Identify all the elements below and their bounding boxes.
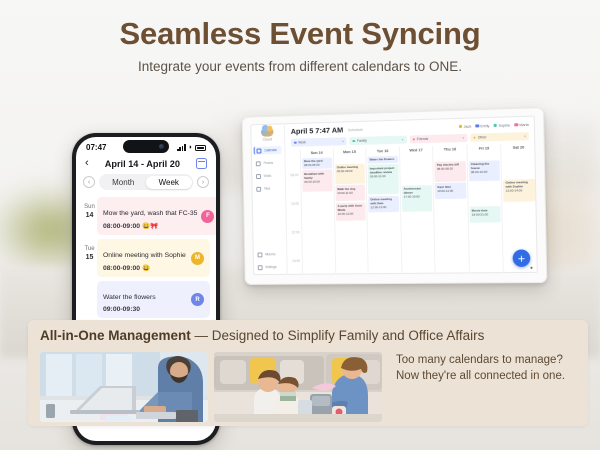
sidebar-item-calendar[interactable]: Calendar [254, 146, 282, 155]
day-columns: Sun 14 Mow the yard 08:00-09:00 Breakfas… [300, 143, 538, 275]
calendar-event[interactable]: Breakfast with family 09:00-10:00 [302, 169, 332, 191]
wifi-icon: ◗ [188, 144, 192, 151]
event-daynum: 14 [82, 212, 97, 220]
sidebar-item-label: Albums [265, 252, 276, 256]
category-chip-friends[interactable]: Friends ▾ [409, 134, 467, 144]
tablet-device: Cloud Calendar Photos Music [242, 107, 548, 285]
list-item[interactable]: Water the flowers 09:00-09:30 R [82, 281, 210, 318]
hour-label: 12:00 [292, 230, 300, 234]
event-time: 10:00-11:00 [337, 190, 353, 194]
sidebar-item-settings[interactable]: Settings [256, 263, 284, 271]
tab-month[interactable]: Month [101, 176, 147, 189]
tablet-indicator-light [530, 266, 533, 269]
calendar-event[interactable]: Online meeting 08:00-09:00 [335, 163, 365, 184]
chevron-down-icon[interactable]: ▾ [342, 139, 344, 143]
view-segmented-control: Month Week [99, 174, 193, 190]
header: Seamless Event Syncing Integrate your ev… [0, 16, 600, 74]
event-time: 12:00-13:00 [370, 205, 386, 209]
sidebar-item-albums[interactable]: Albums [256, 250, 284, 258]
back-icon[interactable]: ‹ [85, 158, 89, 169]
tablet-subtitle: Schedule [348, 127, 363, 131]
tablet-date-label: April 5 7:47 AM [291, 125, 344, 135]
photo-office-work-image [40, 352, 208, 422]
category-dot-icon [353, 140, 356, 143]
calendar-event[interactable]: Movie time 19:00-21:00 [470, 206, 502, 223]
sidebar-item-label: Calendar [264, 148, 277, 152]
day-header: Sun 14 [302, 149, 332, 158]
event-title: Mow the yard, wash that FC-35 [103, 210, 197, 217]
event-time-row: 08:00-09:00 😀 [103, 264, 187, 272]
next-week-button[interactable]: › [197, 176, 209, 188]
legend-dot-icon [475, 124, 479, 128]
add-event-button[interactable]: + [513, 249, 531, 267]
event-dow: Sun [82, 204, 97, 212]
calendar-event[interactable]: A party with Aunt Maria 10:00-12:00 [335, 202, 365, 220]
front-camera-icon [159, 144, 164, 149]
signal-icon [177, 144, 186, 151]
event-emoji: 😀🎀 [142, 222, 158, 230]
phone-navbar: ‹ April 14 - April 20 [76, 155, 216, 171]
event-time: 08:00-09:00 [337, 169, 353, 173]
files-icon [256, 186, 261, 191]
event-time-row: 08:00-09:00 😀🎀 [103, 222, 197, 230]
legend-label: Maria [519, 122, 528, 126]
calendar-event[interactable]: Mow the yard 08:00-09:00 [302, 157, 332, 169]
calendar-event[interactable]: Walk the dog 10:00-11:00 [335, 185, 365, 202]
event-day-marker: Tue 15 [82, 239, 97, 262]
gear-icon [258, 265, 263, 270]
photo-family-home [214, 352, 382, 422]
banner-photos [40, 352, 382, 422]
category-dot-icon [473, 136, 476, 139]
calendar-event[interactable]: Online meeting with Sophie 13:00-14:00 [503, 178, 535, 201]
avatar: M [191, 252, 204, 265]
event-time: 10:00-11:00 [437, 188, 453, 192]
calendar-icon[interactable] [196, 158, 207, 169]
day-column[interactable]: Thu 18 Pay electric bill 08:00-08:30 Gym… [432, 145, 468, 274]
photo-office-work [40, 352, 208, 422]
day-column[interactable]: Wed 17 Anniversary dinner 17:00-19:00 [399, 146, 435, 274]
event-day-marker [82, 281, 97, 288]
category-chip-family[interactable]: Family ▾ [350, 136, 407, 146]
page-subtitle: Integrate your events from different cal… [0, 59, 600, 74]
tablet-sidebar: Cloud Calendar Photos Music [250, 123, 287, 275]
category-label: Other [478, 135, 487, 139]
legend-label: Emily [480, 124, 489, 128]
sidebar-item-photos[interactable]: Photos [254, 159, 282, 168]
album-icon [258, 252, 263, 257]
legend-item[interactable]: Sophie [493, 123, 510, 128]
day-column[interactable]: Tue 16 Water the flowers Important proje… [365, 147, 401, 274]
calendar-event[interactable]: Anniversary dinner 17:00-19:00 [401, 185, 432, 212]
avatar: F [201, 210, 214, 223]
event-day-marker: Sun 14 [82, 197, 97, 220]
event-time-row: 09:00-09:30 [103, 306, 187, 313]
calendar-icon [257, 148, 262, 153]
sidebar-spacer [255, 197, 284, 246]
chevron-down-icon[interactable]: ▾ [402, 138, 404, 142]
legend-item[interactable]: Jack [459, 124, 472, 128]
day-column[interactable]: Fri 19 Cleaning the house 08:00-10:00 Mo… [466, 144, 503, 273]
list-item[interactable]: Sun 14 Mow the yard, wash that FC-35 08:… [82, 197, 210, 235]
event-time: 08:00-09:00 [103, 223, 140, 230]
calendar-event[interactable]: Cleaning the house 08:00-10:00 [469, 160, 501, 181]
hour-label: 14:00 [292, 258, 300, 262]
phone-date-range: April 14 - April 20 [105, 159, 180, 169]
category-label: Friends [417, 137, 428, 141]
tablet-screen: Cloud Calendar Photos Music [250, 116, 537, 276]
banner-title-rest: — Designed to Simplify Family and Office… [191, 328, 485, 343]
legend-item[interactable]: Emily [475, 124, 489, 128]
sidebar-item-label: Files [263, 187, 270, 191]
day-column[interactable]: Mon 15 Online meeting 08:00-09:00 Walk t… [332, 148, 367, 275]
status-time: 07:47 [86, 143, 106, 152]
category-label: Work [298, 140, 306, 144]
banner-title: All-in-One Management — Designed to Simp… [40, 328, 576, 343]
event-title: Online meeting with Sophie [505, 180, 533, 189]
tablet-main: April 5 7:47 AM Schedule Jack Emily [285, 116, 538, 275]
day-column[interactable]: Sun 14 Mow the yard 08:00-09:00 Breakfas… [300, 149, 335, 275]
event-title: Water the flowers [370, 157, 396, 162]
event-time: 09:00-10:00 [304, 179, 320, 183]
event-emoji: 😀 [142, 264, 150, 272]
sidebar-item-label: Settings [265, 265, 277, 269]
event-dow: Tue [82, 246, 97, 254]
calendar-event[interactable]: Important project deadline review 09:00-… [368, 164, 399, 195]
event-title: Water the flowers [103, 294, 156, 301]
banner-title-bold: All-in-One Management [40, 328, 191, 343]
sidebar-item-label: Music [263, 174, 272, 178]
calendar-event[interactable]: Pay electric bill 08:00-08:30 [435, 161, 466, 182]
event-time: 08:00-08:30 [437, 167, 453, 171]
hour-label: 08:00 [291, 173, 299, 177]
prev-week-button[interactable]: ‹ [83, 176, 95, 188]
photo-icon [256, 161, 261, 166]
banner-note: Too many calendars to manage? Now they'r… [390, 352, 576, 385]
event-time: 08:00-09:00 [304, 163, 320, 167]
event-time: 10:00-12:00 [338, 212, 354, 216]
status-icons: ◗ [177, 144, 206, 151]
brand-label: Cloud [263, 137, 273, 141]
bottom-banner: All-in-One Management — Designed to Simp… [28, 320, 588, 426]
sidebar-item-music[interactable]: Music [254, 172, 282, 180]
tablet-frame: Cloud Calendar Photos Music [242, 107, 548, 285]
event-time: 09:00-09:30 [103, 306, 140, 313]
list-item[interactable]: Tue 15 Online meeting with Sophie 08:00-… [82, 239, 210, 277]
banner-body: Too many calendars to manage? Now they'r… [40, 352, 576, 422]
event-time: 19:00-21:00 [472, 212, 488, 216]
event-time: 17:00-19:00 [404, 195, 420, 199]
legend-label: Jack [464, 124, 472, 128]
calendar-week-grid: 08:00 10:00 12:00 14:00 Sun 14 Mow the y… [285, 143, 537, 275]
legend-label: Sophie [499, 123, 511, 127]
legend-dot-icon [514, 123, 518, 127]
calendar-event[interactable]: Water the flowers [368, 155, 398, 163]
category-dot-icon [412, 138, 415, 141]
event-time: 13:00-14:00 [506, 188, 523, 192]
dynamic-island [123, 140, 169, 153]
tab-week[interactable]: Week [146, 176, 192, 189]
event-title: Anniversary dinner [403, 186, 430, 195]
legend-dot-icon [493, 124, 497, 128]
event-card[interactable]: Water the flowers 09:00-09:30 R [97, 281, 210, 318]
category-dot-icon [294, 141, 296, 144]
battery-icon [195, 145, 206, 151]
avatar: R [191, 293, 204, 306]
chevron-down-icon[interactable]: ▾ [524, 134, 526, 138]
cloud-logo-icon: Cloud [253, 127, 281, 142]
music-icon [256, 174, 261, 179]
event-time: 09:00-11:00 [370, 174, 386, 178]
category-label: Family [357, 139, 367, 143]
event-time: 08:00-10:00 [471, 170, 487, 174]
calendar-event[interactable]: Online meeting with Sam 12:00-13:00 [368, 195, 399, 212]
page-title: Seamless Event Syncing [0, 16, 600, 52]
legend-item[interactable]: Maria [514, 122, 529, 127]
promo-graphic: Seamless Event Syncing Integrate your ev… [0, 0, 600, 450]
sidebar-item-label: Photos [263, 161, 273, 165]
calendar-legend: Jack Emily Sophie [459, 122, 529, 128]
category-chip-work[interactable]: Work ▾ [291, 137, 347, 146]
event-card[interactable]: Mow the yard, wash that FC-35 08:00-09:0… [97, 197, 216, 235]
event-card[interactable]: Online meeting with Sophie 08:00-09:00 😀… [97, 239, 210, 277]
event-daynum: 15 [82, 254, 97, 262]
legend-dot-icon [459, 125, 463, 129]
chevron-down-icon[interactable]: ▾ [462, 136, 464, 140]
hour-label: 10:00 [291, 201, 299, 205]
phone-status-bar: 07:47 ◗ [76, 137, 216, 155]
event-title: A party with Aunt Maria [337, 204, 363, 213]
sidebar-item-files[interactable]: Files [254, 184, 282, 192]
calendar-event[interactable]: Gym time 10:00-11:00 [435, 182, 466, 199]
event-title: Online meeting with Sam [370, 197, 397, 206]
photo-family-home-image [214, 352, 382, 422]
view-switcher-row: ‹ Month Week › [76, 171, 216, 195]
day-header: Tue 16 [367, 147, 397, 156]
event-time: 08:00-09:00 [103, 265, 140, 272]
event-title: Online meeting with Sophie [103, 252, 186, 259]
category-chip-other[interactable]: Other ▾ [470, 132, 529, 142]
